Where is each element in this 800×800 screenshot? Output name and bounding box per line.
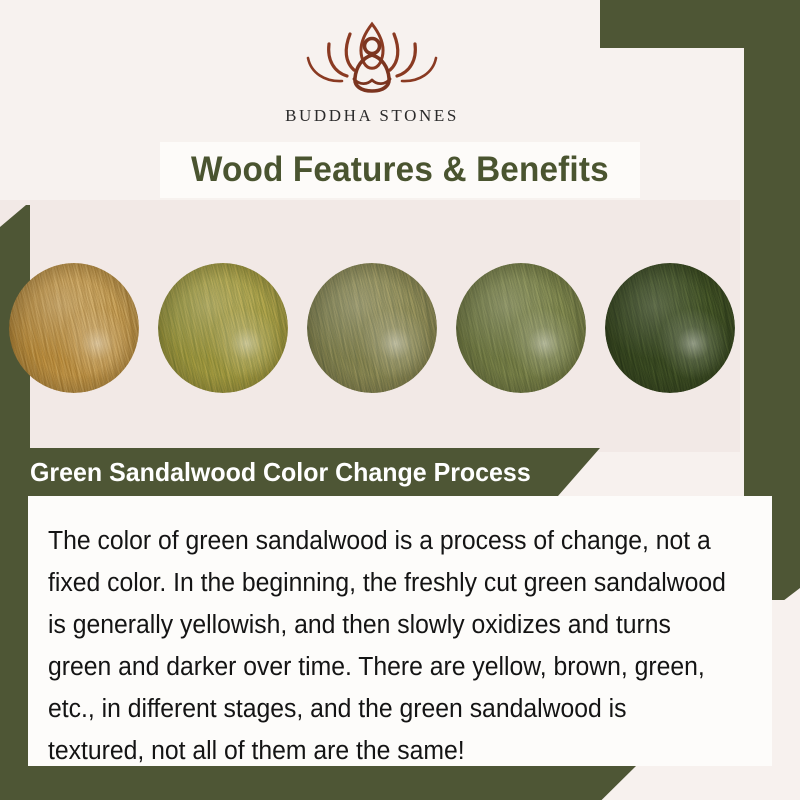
section-title: Green Sandalwood Color Change Process	[30, 457, 531, 488]
page-title-band: Wood Features & Benefits	[160, 142, 640, 198]
brand-logo: BUDDHA STONES	[0, 18, 744, 143]
brand-name: BUDDHA STONES	[285, 106, 459, 126]
description-text: The color of green sandalwood is a proce…	[48, 520, 727, 772]
bead-shading	[9, 263, 139, 393]
bead-shading	[456, 263, 586, 393]
bead-shading	[605, 263, 735, 393]
section-banner: Green Sandalwood Color Change Process	[0, 448, 600, 496]
lotus-meditation-icon	[282, 18, 462, 102]
page-title: Wood Features & Benefits	[191, 150, 609, 190]
poster-canvas: BUDDHA STONES Wood Features & Benefits G…	[0, 0, 800, 800]
bead-stage-5	[605, 263, 735, 393]
bead-stage-1	[9, 263, 139, 393]
bead-stage-2	[158, 263, 288, 393]
bead-stage-3	[307, 263, 437, 393]
bead-row	[0, 253, 744, 403]
bead-stage-4	[456, 263, 586, 393]
bead-shading	[307, 263, 437, 393]
bead-shading	[158, 263, 288, 393]
description-card: The color of green sandalwood is a proce…	[28, 496, 772, 766]
